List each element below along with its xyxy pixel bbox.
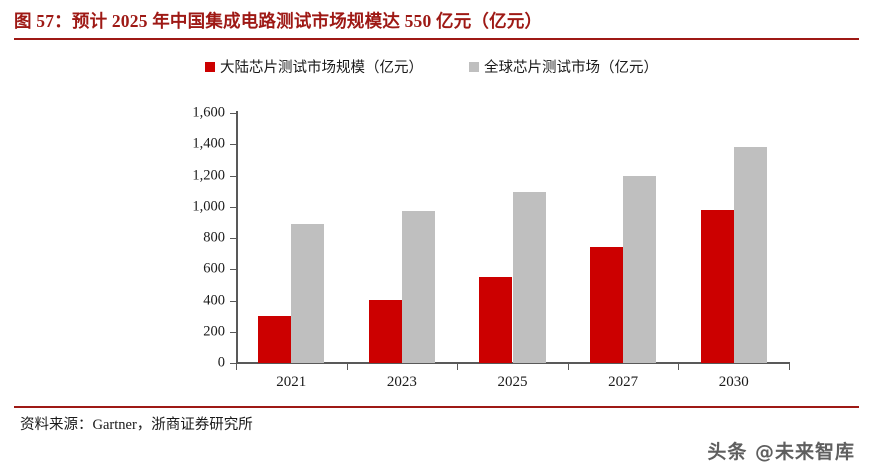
- y-axis-tick-label: 1,600: [192, 105, 225, 122]
- legend-item[interactable]: 全球芯片测试市场（亿元）: [469, 56, 658, 77]
- x-axis-tick: [678, 363, 679, 370]
- watermark: 头条 @未来智库: [707, 437, 855, 464]
- legend-item-label: 全球芯片测试市场（亿元）: [484, 56, 658, 77]
- legend-item[interactable]: 大陆芯片测试市场规模（亿元）: [205, 56, 423, 77]
- legend-item-label: 大陆芯片测试市场规模（亿元）: [220, 56, 423, 77]
- y-axis-tick-label: 200: [203, 323, 225, 340]
- bar-全球-2030[interactable]: [734, 147, 767, 363]
- y-axis-tick: [230, 332, 236, 333]
- bar-大陆-2030[interactable]: [701, 210, 734, 363]
- source-note: 资料来源：Gartner，浙商证券研究所: [20, 413, 253, 434]
- bar-大陆-2021[interactable]: [258, 316, 291, 363]
- x-axis-tick: [789, 363, 790, 370]
- title-divider: [14, 38, 859, 40]
- x-axis-tick-label: 2027: [608, 374, 638, 391]
- bar-全球-2025[interactable]: [513, 192, 546, 363]
- figure-panel: 图 57：预计 2025 年中国集成电路测试市场规模达 550 亿元（亿元） 大…: [0, 0, 873, 473]
- page-title: 图 57：预计 2025 年中国集成电路测试市场规模达 550 亿元（亿元）: [14, 8, 859, 33]
- legend-swatch-icon: [205, 62, 215, 72]
- y-axis-tick: [230, 176, 236, 177]
- bar-全球-2027[interactable]: [623, 176, 656, 364]
- y-axis-tick-label: 1,000: [192, 198, 225, 215]
- chart-legend: 大陆芯片测试市场规模（亿元）全球芯片测试市场（亿元）: [205, 56, 658, 77]
- y-axis-tick: [230, 113, 236, 114]
- x-axis-tick-label: 2021: [276, 374, 306, 391]
- bar-大陆-2025[interactable]: [479, 277, 512, 363]
- y-axis-tick-label: 0: [218, 355, 225, 372]
- legend-swatch-icon: [469, 62, 479, 72]
- bar-大陆-2023[interactable]: [369, 300, 402, 363]
- bar-全球-2023[interactable]: [402, 211, 435, 363]
- bar-大陆-2027[interactable]: [590, 247, 623, 363]
- bar-全球-2021[interactable]: [291, 224, 324, 363]
- y-axis-tick: [230, 207, 236, 208]
- x-axis-tick: [568, 363, 569, 370]
- y-axis-tick-label: 1,200: [192, 167, 225, 184]
- x-axis-tick-label: 2030: [719, 374, 749, 391]
- x-axis-tick: [457, 363, 458, 370]
- x-axis-tick-label: 2025: [498, 374, 528, 391]
- y-axis-tick: [230, 301, 236, 302]
- y-axis-tick: [230, 269, 236, 270]
- footer-divider: [14, 406, 859, 408]
- y-axis-tick: [230, 238, 236, 239]
- y-axis-tick-label: 1,400: [192, 136, 225, 153]
- y-axis-tick-label: 800: [203, 230, 225, 247]
- plot-area: 02004006008001,0001,2001,4001,600: [236, 113, 789, 363]
- x-axis-tick: [347, 363, 348, 370]
- y-axis-tick-label: 600: [203, 261, 225, 278]
- y-axis-tick: [230, 144, 236, 145]
- y-axis-tick-label: 400: [203, 292, 225, 309]
- x-axis-tick: [236, 363, 237, 370]
- x-axis-tick-label: 2023: [387, 374, 417, 391]
